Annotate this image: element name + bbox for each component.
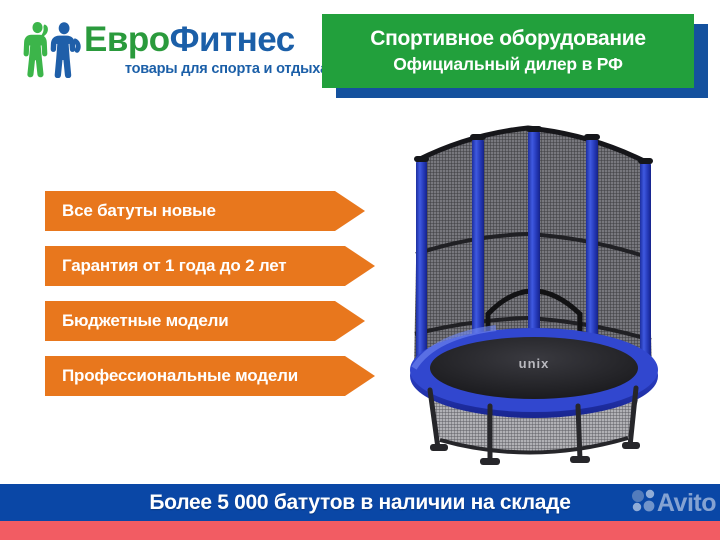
brand-tagline: товары для спорта и отдыха [84, 61, 328, 77]
footer-banner: Более 5 000 батутов в наличии на складе [0, 484, 720, 521]
brand-wordmark: ЕвроФитнес [84, 18, 322, 62]
brand-wordmark-part1: Евро [84, 20, 170, 59]
mat-logo-text: unix [519, 356, 550, 371]
feature-arrow: Профессиональные модели [45, 356, 375, 396]
header-banner: Спортивное оборудование Официальный диле… [322, 14, 694, 88]
brand-logo: ЕвроФитнес товары для спорта и отдыха [22, 18, 322, 84]
feature-arrow: Все батуты новые [45, 191, 365, 231]
footer-banner-text: Более 5 000 батутов в наличии на складе [149, 491, 570, 515]
header-banner-title: Спортивное оборудование [370, 27, 646, 51]
header-banner-panel: Спортивное оборудование Официальный диле… [322, 14, 694, 88]
two-fitness-figures-icon [22, 20, 84, 78]
footer-accent-bar [0, 521, 720, 540]
feature-arrow: Бюджетные модели [45, 301, 365, 341]
promo-banner-page: ЕвроФитнес товары для спорта и отдыха Сп… [0, 0, 720, 540]
header-banner-subtitle: Официальный дилер в РФ [393, 54, 623, 75]
trampoline-with-safety-net-photo: unix [400, 118, 710, 468]
feature-arrow: Гарантия от 1 года до 2 лет [45, 246, 375, 286]
feature-list: Все батуты новые Гарантия от 1 года до 2… [45, 191, 375, 396]
brand-wordmark-part2: Фитнес [170, 20, 295, 59]
